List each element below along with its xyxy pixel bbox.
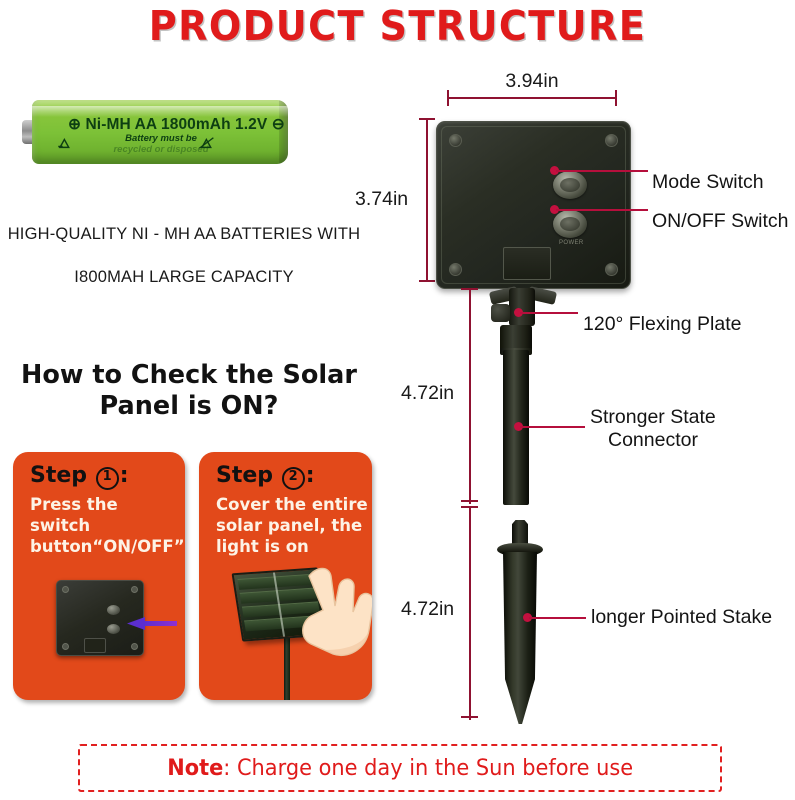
howto-heading: How to Check the Solar Panel is ON? xyxy=(0,360,378,422)
howto-heading-line2: Panel is ON? xyxy=(0,391,378,422)
step-2-colon: : xyxy=(306,463,315,488)
flex-plate-core xyxy=(509,288,535,326)
battery-spec-text: ⊕ Ni-MH AA 1800mAh 1.2V ⊖ xyxy=(68,115,268,134)
step-1-body: Press the switch button“ON/OFF” xyxy=(30,494,182,557)
step-2-heading: Step 2: xyxy=(216,463,315,490)
pointed-stake xyxy=(503,552,537,724)
step-1-prefix: Step xyxy=(30,463,87,488)
dim-line-panel-height xyxy=(426,118,428,282)
callout-label-flexing-plate: 120° Flexing Plate xyxy=(583,313,741,336)
battery-recycle-text: Battery must be recycled or disposed xyxy=(96,134,226,155)
callout-line-onoff-switch xyxy=(556,209,648,211)
panel-recess xyxy=(503,247,551,280)
mode-switch-button xyxy=(107,605,120,615)
note-rest: : Charge one day in the Sun before use xyxy=(223,756,633,781)
mode-switch-button[interactable] xyxy=(553,171,587,199)
step-2-prefix: Step xyxy=(216,463,273,488)
callout-line-state-connector xyxy=(520,426,585,428)
screw-icon xyxy=(449,263,462,276)
flex-plate-knob[interactable] xyxy=(491,304,510,322)
callout-label-state-connector-line2: Connector xyxy=(590,429,716,452)
howto-heading-line1: How to Check the Solar xyxy=(0,360,378,391)
onoff-switch-button xyxy=(107,624,120,634)
step-card-1: Step 1: Press the switch button“ON/OFF” xyxy=(13,452,185,700)
note-text: Note: Charge one day in the Sun before u… xyxy=(167,756,633,781)
dim-tick-connector-bottom xyxy=(461,500,478,502)
screw-icon xyxy=(62,643,69,650)
dim-label-connector: 4.72in xyxy=(401,382,454,405)
screw-icon xyxy=(605,134,618,147)
step-card-2: Step 2: Cover the entire solar panel, th… xyxy=(199,452,372,700)
battery-caption-line2: I800MAH LARGE CAPACITY xyxy=(0,268,368,287)
screw-icon xyxy=(605,263,618,276)
dim-label-panel-height: 3.74in xyxy=(355,188,408,211)
battery-recycle-line2: recycled or disposed xyxy=(96,145,226,156)
callout-label-pointed-stake: longer Pointed Stake xyxy=(591,606,772,629)
callout-line-mode-switch xyxy=(556,170,648,172)
callout-label-mode-switch: Mode Switch xyxy=(652,171,764,194)
battery-recycle-line1: Battery must be xyxy=(96,134,226,145)
panel-recess xyxy=(84,638,106,653)
dim-line-stake xyxy=(469,506,471,720)
battery-caption-line1: HIGH-QUALITY NI - MH AA BATTERIES WITH xyxy=(0,225,368,244)
dim-tick-bottom xyxy=(419,280,435,282)
dim-line-panel-width xyxy=(447,97,617,99)
solar-panel-post xyxy=(284,638,290,700)
dim-tick-connector-top xyxy=(461,288,478,290)
callout-label-state-connector-line1: Stronger State xyxy=(590,406,716,429)
callout-label-onoff-switch: ON/OFF Switch xyxy=(652,210,789,233)
dim-label-stake: 4.72in xyxy=(401,598,454,621)
dim-label-panel-width: 3.94in xyxy=(447,70,617,93)
battery-image: ⊕ Ni-MH AA 1800mAh 1.2V ⊖ Battery must b… xyxy=(22,100,290,168)
page-title: PRODUCT STRUCTURE xyxy=(28,2,767,50)
hand-icon xyxy=(295,564,372,660)
callout-line-pointed-stake xyxy=(529,617,586,619)
screw-icon xyxy=(62,586,69,593)
infographic-root: PRODUCT STRUCTURE ⊕ Ni-MH AA 1800mAh 1.2… xyxy=(0,0,795,800)
onoff-switch-button[interactable] xyxy=(553,210,587,238)
dim-line-connector xyxy=(469,288,471,504)
dim-tick-top xyxy=(419,118,435,120)
panel-power-marking: POWER xyxy=(559,240,584,246)
step-2-number: 2 xyxy=(282,467,305,490)
solar-panel-back: POWER xyxy=(436,121,631,289)
note-box: Note: Charge one day in the Sun before u… xyxy=(78,744,722,792)
step-1-heading: Step 1: xyxy=(30,463,129,490)
callout-line-flexing-plate xyxy=(520,312,578,314)
screw-icon xyxy=(131,586,138,593)
dim-tick-stake-bottom xyxy=(461,716,478,718)
screw-icon xyxy=(449,134,462,147)
step-1-colon: : xyxy=(120,463,129,488)
note-bold: Note xyxy=(167,756,223,781)
step-2-body: Cover the entire solar panel, the light … xyxy=(216,494,368,557)
recycle-icon xyxy=(56,136,78,150)
dim-tick-stake-top xyxy=(461,506,478,508)
pointing-arrow-icon xyxy=(127,617,177,630)
step-1-number: 1 xyxy=(96,467,119,490)
callout-label-state-connector: Stronger State Connector xyxy=(590,406,716,452)
screw-icon xyxy=(131,643,138,650)
